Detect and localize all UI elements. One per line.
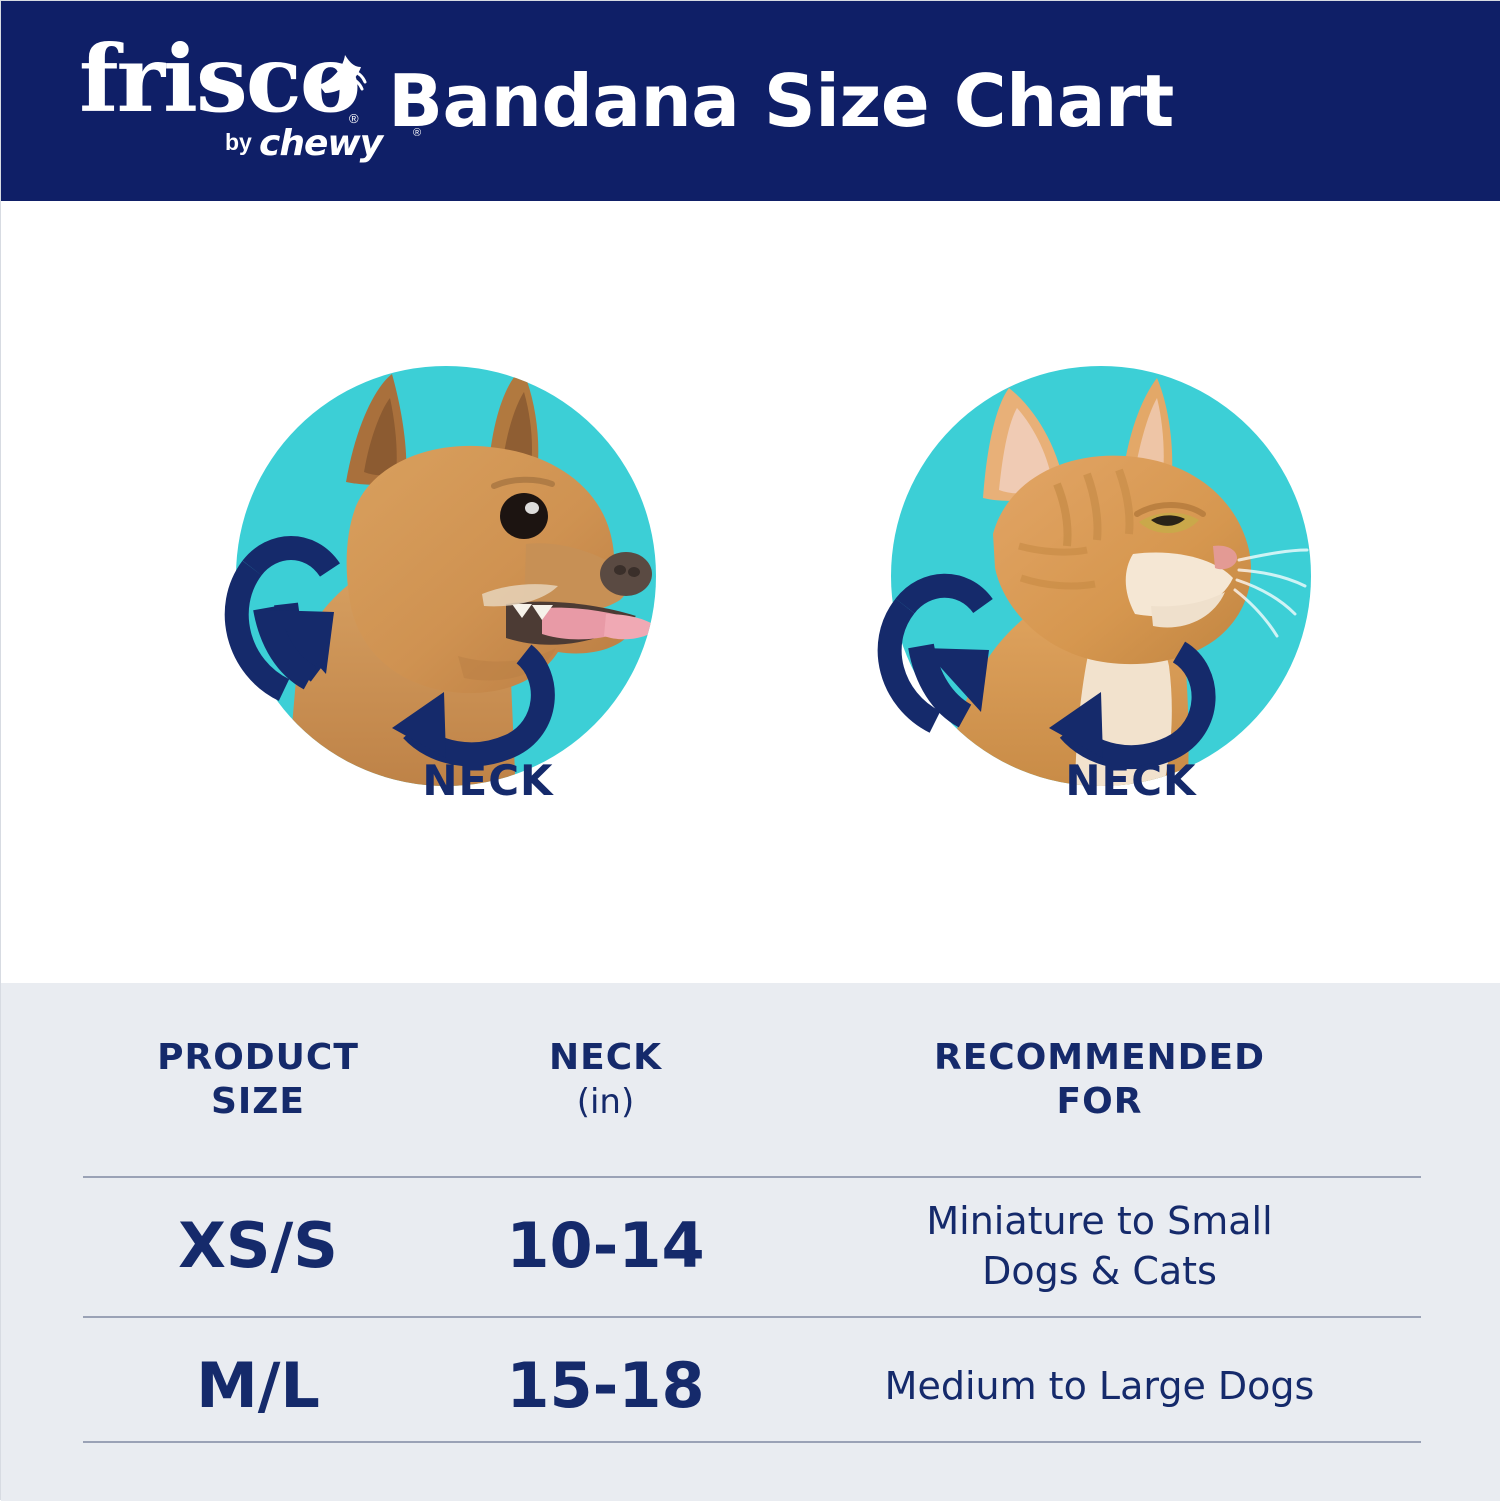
cell-product-size: M/L bbox=[83, 1353, 433, 1419]
column-header-recommended-for: RECOMMENDED FOR bbox=[778, 1036, 1421, 1124]
page-title: Bandana Size Chart bbox=[1, 1, 1500, 201]
cat-neck-label: NECK bbox=[901, 756, 1361, 805]
cell-neck: 15-18 bbox=[433, 1353, 778, 1419]
row-0-size: XS/S bbox=[178, 1213, 338, 1279]
table-header-row: PRODUCT SIZE NECK (in) RECOMMENDED FOR bbox=[83, 983, 1421, 1176]
row-0-recommended-line2: Dogs & Cats bbox=[926, 1246, 1272, 1296]
column-header-neck-line1: NECK bbox=[549, 1036, 662, 1080]
size-chart-page: frisco ® by chewy ® Bandana Size Chart bbox=[0, 0, 1500, 1500]
cell-neck: 10-14 bbox=[433, 1213, 778, 1279]
row-1-neck: 15-18 bbox=[506, 1353, 704, 1419]
dog-measurement-illustration: NECK bbox=[206, 356, 666, 836]
neck-measure-arrow-icon bbox=[237, 548, 334, 690]
column-header-neck-unit: (in) bbox=[549, 1080, 662, 1124]
illustration-band: NECK bbox=[1, 201, 1500, 983]
row-1-recommended-line1: Medium to Large Dogs bbox=[885, 1361, 1315, 1411]
page-header: frisco ® by chewy ® Bandana Size Chart bbox=[1, 1, 1500, 201]
cell-recommended-for: Miniature to Small Dogs & Cats bbox=[778, 1196, 1421, 1296]
row-0-neck: 10-14 bbox=[506, 1213, 704, 1279]
table-row: M/L 15-18 Medium to Large Dogs bbox=[83, 1316, 1421, 1456]
cell-product-size: XS/S bbox=[83, 1213, 433, 1279]
size-table-inner: PRODUCT SIZE NECK (in) RECOMMENDED FOR bbox=[83, 983, 1421, 1456]
cell-recommended-for: Medium to Large Dogs bbox=[778, 1361, 1421, 1411]
cat-measurement-illustration: NECK bbox=[861, 356, 1321, 836]
column-header-recommended-line1: RECOMMENDED bbox=[934, 1036, 1265, 1080]
column-header-product-size-line2: SIZE bbox=[157, 1080, 359, 1124]
table-row: XS/S 10-14 Miniature to Small Dogs & Cat… bbox=[83, 1176, 1421, 1316]
column-header-product-size-line1: PRODUCT bbox=[157, 1036, 359, 1080]
neck-measure-arrow-icon bbox=[890, 586, 989, 722]
size-table: PRODUCT SIZE NECK (in) RECOMMENDED FOR bbox=[1, 983, 1500, 1501]
table-divider bbox=[83, 1441, 1421, 1443]
dog-neck-label: NECK bbox=[258, 756, 718, 805]
row-1-size: M/L bbox=[196, 1353, 320, 1419]
row-0-recommended-line1: Miniature to Small bbox=[926, 1196, 1272, 1246]
cat-head-icon bbox=[861, 356, 1321, 796]
column-header-neck: NECK (in) bbox=[433, 1036, 778, 1124]
column-header-recommended-line2: FOR bbox=[934, 1080, 1265, 1124]
column-header-product-size: PRODUCT SIZE bbox=[83, 1036, 433, 1124]
dog-head-icon bbox=[206, 356, 666, 796]
